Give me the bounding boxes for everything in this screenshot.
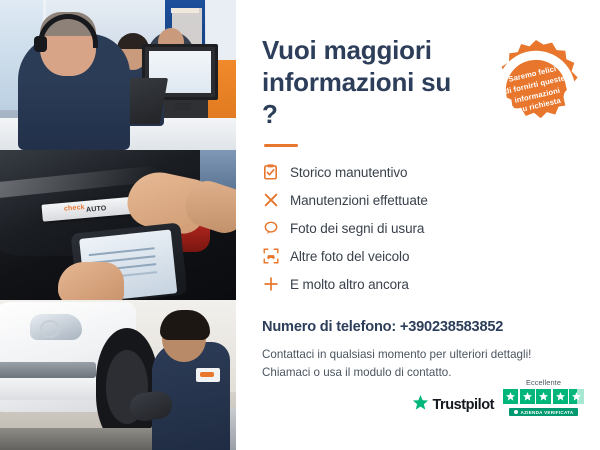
verified-business-badge: AZIENDA VERIFICATA <box>509 408 579 416</box>
star-icon <box>536 389 551 404</box>
feature-list: Storico manutentivo Manutenzioni effettu… <box>262 164 578 293</box>
headline-line-2: informazioni su ? <box>262 67 451 129</box>
grille-decor <box>0 362 96 378</box>
title-underline-rule <box>264 144 298 147</box>
star-half-icon <box>569 389 584 404</box>
content-panel: Vuoi maggiori informazioni su ? Sare <box>236 0 600 450</box>
speech-bubble-icon <box>262 220 279 237</box>
clipboard-check-icon <box>262 164 279 181</box>
contact-subtext-line-1: Contattaci in qualsiasi momento per ulte… <box>262 348 531 361</box>
list-item-label: E molto altro ancora <box>290 277 409 292</box>
trustpilot-star-icon <box>412 394 429 416</box>
plus-icon <box>262 276 279 293</box>
promo-banner: AUTOcheck Vuoi maggiori infor <box>0 0 600 450</box>
technician-hand-lower <box>58 262 124 300</box>
trustpilot-widget[interactable]: Trustpilot Eccellente <box>412 378 584 416</box>
list-item-label: Storico manutentivo <box>290 165 407 180</box>
star-icon <box>520 389 535 404</box>
trustpilot-rating-label: Eccellente <box>526 378 561 387</box>
list-item[interactable]: Altre foto del veicolo <box>262 248 578 265</box>
list-item-label: Manutenzioni effettuate <box>290 193 428 208</box>
mechanic-hair <box>160 310 210 340</box>
trustpilot-logo: Trustpilot <box>412 394 494 416</box>
list-item[interactable]: E molto altro ancora <box>262 276 578 293</box>
tools-cross-icon <box>262 192 279 209</box>
list-item-label: Foto dei segni di usura <box>290 221 424 236</box>
headline-line-1: Vuoi maggiori <box>262 35 432 65</box>
check-circle-icon <box>514 410 518 414</box>
list-item[interactable]: Foto dei segni di usura <box>262 220 578 237</box>
star-icon <box>553 389 568 404</box>
trustpilot-brand-label: Trustpilot <box>432 397 494 413</box>
scan-car-icon <box>262 248 279 265</box>
call-center-photo <box>0 0 236 150</box>
verified-badge-label: AZIENDA VERIFICATA <box>521 410 574 415</box>
phone-number[interactable]: +390238583852 <box>400 319 503 335</box>
list-item-label: Altre foto del veicolo <box>290 249 409 264</box>
list-item[interactable]: Manutenzioni effettuate <box>262 192 578 209</box>
promise-seal-badge: Saremo felici di fornirti queste informa… <box>484 38 588 142</box>
photo-column: AUTOcheck <box>0 0 236 450</box>
phone-line[interactable]: Numero di telefono: +390238583852 <box>262 319 578 335</box>
mechanic-wheel-photo <box>0 300 236 450</box>
list-item[interactable]: Storico manutentivo <box>262 164 578 181</box>
trustpilot-rating: Eccellente <box>503 378 584 416</box>
operator-earcup <box>34 36 47 52</box>
sticker-text: AUTOcheck <box>64 204 85 213</box>
phone-label: Numero di telefono: <box>262 319 396 335</box>
uniform-logo-patch <box>196 368 220 382</box>
vehicle-inspection-photo: AUTOcheck <box>0 150 236 300</box>
trustpilot-stars <box>503 389 584 404</box>
star-icon <box>503 389 518 404</box>
page-title: Vuoi maggiori informazioni su ? <box>262 34 472 131</box>
headlight-decor <box>30 314 82 340</box>
